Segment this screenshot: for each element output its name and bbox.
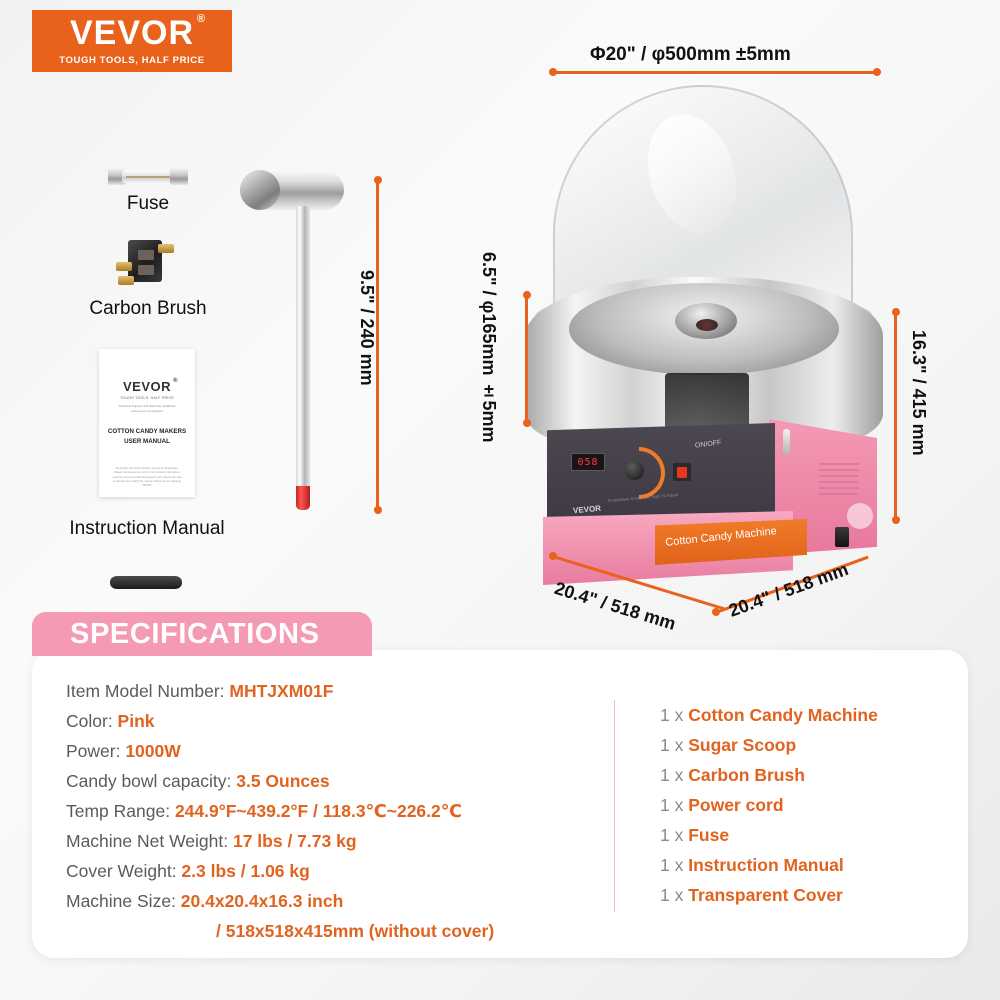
scoop-head-cap <box>240 170 280 210</box>
machine-height-dot-top <box>892 308 900 316</box>
spec-value-capacity: 3.5 Ounces <box>236 771 329 791</box>
package-qty-scoop: 1 x <box>660 735 688 755</box>
machine-width-right-dot <box>712 608 720 616</box>
registered-trademark-icon: ® <box>197 14 206 25</box>
logo-wordmark-text: VEVOR <box>70 14 194 52</box>
manual-cover-body: We provide 12-month warranty service for… <box>112 467 181 489</box>
package-row-carbon-brush: 1 x Carbon Brush <box>660 760 960 790</box>
machine-height-label: 16.3" / 415 mm <box>908 330 929 456</box>
package-qty-cover: 1 x <box>660 885 688 905</box>
machine-height-line <box>894 312 897 520</box>
power-switch[interactable] <box>673 463 691 481</box>
carbon-brush-base <box>110 576 182 589</box>
carbon-brush-terminal-top <box>158 244 174 253</box>
spec-row-temp-range: Temp Range: 244.9°F~439.2°F / 118.3℃~226… <box>66 796 586 826</box>
spec-row-power: Power: 1000W <box>66 736 586 766</box>
carbon-brush-window-top <box>138 250 154 260</box>
carbon-brush-image <box>108 238 186 296</box>
package-item-manual: Instruction Manual <box>688 855 844 875</box>
carbon-brush-label: Carbon Brush <box>48 298 248 320</box>
spec-row-capacity: Candy bowl capacity: 3.5 Ounces <box>66 766 586 796</box>
spec-value-cover-weight: 2.3 lbs / 1.06 kg <box>181 861 309 881</box>
panel-brand-logo: VEVOR <box>573 504 602 515</box>
bowl-diameter-dot-bottom <box>523 419 531 427</box>
temperature-display: 058 <box>571 453 605 471</box>
cover-diameter-line <box>553 71 877 74</box>
cover-diameter-dot-right <box>873 68 881 76</box>
bowl-diameter-dot-top <box>523 291 531 299</box>
scoop-dimension-dot-bottom <box>374 506 382 514</box>
manual-registered-icon: ® <box>173 378 178 384</box>
bowl-diameter-line <box>525 295 528 423</box>
specifications-banner: SPECIFICATIONS <box>32 612 372 656</box>
package-item-fuse: Fuse <box>688 825 729 845</box>
bowl-diameter-label: 6.5" / φ165mm ±5mm <box>478 252 499 443</box>
temperature-knob[interactable] <box>625 461 644 480</box>
logo-wordmark: VEVOR ® <box>70 16 194 50</box>
manual-cover-title-line1: COTTON CANDY MAKERS <box>108 427 186 437</box>
spec-value-machine-size: 20.4x20.4x16.3 inch <box>181 891 343 911</box>
spec-value-temp-range: 244.9°F~439.2°F / 118.3℃~226.2℃ <box>175 801 462 821</box>
package-qty-manual: 1 x <box>660 855 688 875</box>
spinner-core <box>696 319 718 331</box>
spec-label-model: Item Model Number: <box>66 681 229 701</box>
power-switch-label: ON/OFF <box>695 439 722 449</box>
sugar-scoop-image <box>240 170 352 515</box>
package-contents-list: 1 x Cotton Candy Machine 1 x Sugar Scoop… <box>660 700 960 910</box>
spec-label-power: Power: <box>66 741 125 761</box>
scoop-shaft <box>296 206 310 488</box>
package-row-scoop: 1 x Sugar Scoop <box>660 730 960 760</box>
package-row-manual: 1 x Instruction Manual <box>660 850 960 880</box>
cotton-candy-machine-image: 058 ON/OFF Temperature Knob, Turn Right … <box>505 85 925 605</box>
instruction-manual-image: VEVOR ® TOUGH TOOLS, HALF PRICE Technica… <box>99 349 195 497</box>
spec-label-temp-range: Temp Range: <box>66 801 175 821</box>
spec-row-net-weight: Machine Net Weight: 17 lbs / 7.73 kg <box>66 826 586 856</box>
machine-width-left-dot <box>549 552 557 560</box>
package-item-carbon-brush: Carbon Brush <box>688 765 805 785</box>
package-qty-fuse: 1 x <box>660 825 688 845</box>
manual-cover-tagline: TOUGH TOOLS, HALF PRICE <box>120 396 174 400</box>
dome-highlight <box>633 103 751 245</box>
spec-row-machine-size: Machine Size: 20.4x20.4x16.3 inch <box>66 886 586 916</box>
product-spec-sheet: VEVOR ® TOUGH TOOLS, HALF PRICE Fuse Car… <box>0 0 1000 1000</box>
package-qty-power-cord: 1 x <box>660 795 688 815</box>
bowl-latch <box>783 429 790 455</box>
cover-diameter-dot-left <box>549 68 557 76</box>
package-row-power-cord: 1 x Power cord <box>660 790 960 820</box>
spec-label-machine-size: Machine Size: <box>66 891 181 911</box>
spec-label-color: Color: <box>66 711 118 731</box>
spec-machine-size-continuation: / 518x518x415mm (without cover) <box>66 916 586 946</box>
package-qty-carbon-brush: 1 x <box>660 765 688 785</box>
instruction-manual-label: Instruction Manual <box>47 518 247 540</box>
temperature-display-value: 058 <box>577 457 598 468</box>
manual-cover-logo: VEVOR ® <box>123 379 171 394</box>
ventilation-slots-icon <box>819 463 859 497</box>
package-row-cover: 1 x Transparent Cover <box>660 880 960 910</box>
cover-diameter-label: Φ20" / φ500mm ±5mm <box>590 44 791 66</box>
spec-label-net-weight: Machine Net Weight: <box>66 831 233 851</box>
spec-row-color: Color: Pink <box>66 706 586 736</box>
specifications-heading: SPECIFICATIONS <box>70 618 320 651</box>
package-row-machine: 1 x Cotton Candy Machine <box>660 700 960 730</box>
manual-cover-brand: VEVOR <box>123 379 171 394</box>
spec-value-model: MHTJXM01F <box>229 681 333 701</box>
fuse-label: Fuse <box>48 193 248 215</box>
scoop-dimension-dot-top <box>374 176 382 184</box>
carbon-brush-terminal-bottom <box>118 276 134 285</box>
power-socket <box>835 527 849 547</box>
manual-cover-title-line2: USER MANUAL <box>124 437 170 447</box>
fuse-cap-right <box>170 168 188 185</box>
rating-sticker <box>847 503 873 529</box>
spec-value-net-weight: 17 lbs / 7.73 kg <box>233 831 357 851</box>
vevor-logo: VEVOR ® TOUGH TOOLS, HALF PRICE <box>32 10 232 72</box>
package-item-machine: Cotton Candy Machine <box>688 705 878 725</box>
specifications-divider <box>614 700 615 912</box>
machine-base: 058 ON/OFF Temperature Knob, Turn Right … <box>547 423 877 557</box>
package-qty-machine: 1 x <box>660 705 688 725</box>
package-item-cover: Transparent Cover <box>688 885 843 905</box>
scoop-red-tip <box>296 486 310 510</box>
scoop-length-dimension-label: 9.5" / 240 mm <box>356 270 377 386</box>
package-row-fuse: 1 x Fuse <box>660 820 960 850</box>
spec-value-color: Pink <box>118 711 155 731</box>
specifications-list: Item Model Number: MHTJXM01F Color: Pink… <box>66 676 586 946</box>
carbon-brush-terminal-mid <box>116 262 132 271</box>
fuse-filament <box>126 176 170 178</box>
fuse-image <box>108 168 188 185</box>
package-item-power-cord: Power cord <box>688 795 783 815</box>
spec-label-capacity: Candy bowl capacity: <box>66 771 236 791</box>
spec-label-cover-weight: Cover Weight: <box>66 861 181 881</box>
logo-tagline: TOUGH TOOLS, HALF PRICE <box>59 55 204 66</box>
manual-cover-subline: Technical Support and Warranty Certifica… <box>112 404 181 413</box>
package-item-scoop: Sugar Scoop <box>688 735 796 755</box>
spec-row-cover-weight: Cover Weight: 2.3 lbs / 1.06 kg <box>66 856 586 886</box>
spec-value-power: 1000W <box>125 741 180 761</box>
machine-height-dot-bottom <box>892 516 900 524</box>
spec-row-model: Item Model Number: MHTJXM01F <box>66 676 586 706</box>
carbon-brush-window-bottom <box>138 265 154 275</box>
